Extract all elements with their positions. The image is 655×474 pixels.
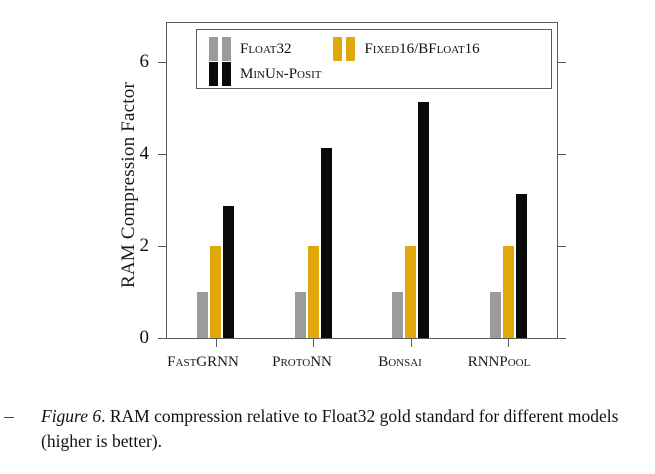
caption-margin-mark bbox=[4, 417, 14, 418]
legend-label-fixed16: Fixed16/BFloat16 bbox=[364, 40, 479, 58]
legend-label-minun-posit: MinUn-Posit bbox=[240, 65, 322, 83]
legend-swatch-block bbox=[222, 37, 231, 61]
x-tick-text: ProtoNN bbox=[272, 354, 332, 370]
x-tick-mark bbox=[313, 338, 314, 347]
y-tick-mark-right bbox=[557, 154, 566, 155]
bar-minun-posit-fastgrnn bbox=[223, 206, 234, 338]
y-tick-label: 0 bbox=[109, 328, 149, 347]
y-tick-mark-right bbox=[557, 62, 566, 63]
caption-body: . RAM compression relative to Float32 go… bbox=[41, 406, 618, 451]
x-tick-label-rnnpool: RNNPool bbox=[434, 354, 564, 371]
y-tick-label: 6 bbox=[109, 52, 149, 71]
legend-swatch-fixed16 bbox=[333, 37, 355, 61]
bar-fixed16-bfloat16-fastgrnn bbox=[210, 246, 221, 338]
legend-swatch-block bbox=[222, 62, 231, 86]
legend-item-minun-posit: MinUn-Posit bbox=[209, 61, 322, 87]
caption-body-text: . RAM compression relative to Float32 go… bbox=[41, 406, 618, 451]
legend-swatch-float32 bbox=[209, 37, 231, 61]
x-tick-text: FastGRNN bbox=[167, 354, 239, 370]
x-tick-text: Bonsai bbox=[378, 354, 422, 370]
bar-fixed16-bfloat16-protonn bbox=[308, 246, 319, 338]
legend-row-bottom: MinUn-Posit bbox=[209, 61, 322, 87]
y-tick-mark bbox=[158, 154, 167, 155]
legend-item-float32: Float32 bbox=[209, 36, 291, 62]
chart-legend: Float32 Fixed16/BFloat16 MinUn-Posit bbox=[196, 29, 552, 89]
y-axis-title: RAM Compression Factor bbox=[116, 35, 142, 335]
bar-fixed16-bfloat16-bonsai bbox=[405, 246, 416, 338]
y-tick-mark-right bbox=[557, 246, 566, 247]
x-tick-mark bbox=[411, 338, 412, 347]
bar-float32-fastgrnn bbox=[197, 292, 208, 338]
legend-swatch-minun-posit bbox=[209, 62, 231, 86]
x-tick-mark bbox=[508, 338, 509, 347]
bar-minun-posit-rnnpool bbox=[516, 194, 527, 338]
figure-caption: Figure 6. RAM compression relative to Fl… bbox=[41, 404, 621, 454]
y-tick-mark-right bbox=[557, 338, 566, 339]
legend-swatch-block bbox=[209, 37, 218, 61]
bar-minun-posit-bonsai bbox=[418, 102, 429, 338]
legend-item-fixed16: Fixed16/BFloat16 bbox=[333, 36, 479, 62]
figure-6: RAM Compression Factor 0246 FastGRNN Pro… bbox=[0, 0, 655, 474]
bar-float32-rnnpool bbox=[490, 292, 501, 338]
bar-minun-posit-protonn bbox=[321, 148, 332, 338]
y-tick-mark bbox=[158, 246, 167, 247]
legend-swatch-block bbox=[209, 62, 218, 86]
legend-row-top: Float32 Fixed16/BFloat16 bbox=[209, 36, 480, 62]
x-tick-text: RNNPool bbox=[468, 354, 531, 370]
y-tick-mark bbox=[158, 62, 167, 63]
y-tick-label: 4 bbox=[109, 144, 149, 163]
legend-swatch-block bbox=[346, 37, 355, 61]
legend-swatch-block bbox=[333, 37, 342, 61]
legend-label-float32: Float32 bbox=[240, 40, 291, 58]
y-tick-label: 2 bbox=[109, 236, 149, 255]
caption-figure-number: Figure 6 bbox=[41, 406, 101, 426]
bar-float32-protonn bbox=[295, 292, 306, 338]
x-tick-mark bbox=[216, 338, 217, 347]
bar-fixed16-bfloat16-rnnpool bbox=[503, 246, 514, 338]
y-tick-mark bbox=[158, 338, 167, 339]
bar-float32-bonsai bbox=[392, 292, 403, 338]
